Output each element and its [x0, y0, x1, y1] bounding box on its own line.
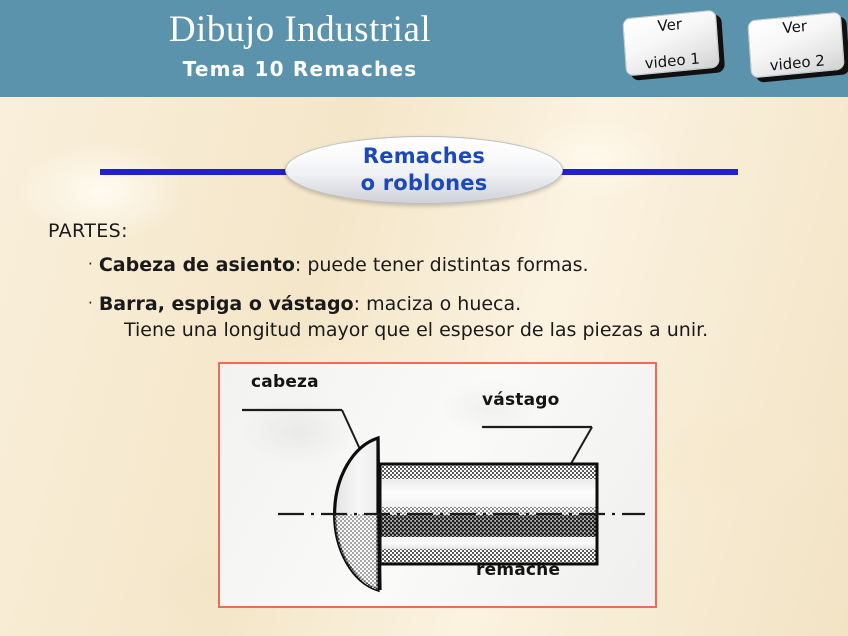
heading-rule-right: [548, 169, 738, 175]
header-band: Dibujo Industrial Tema 10 Remaches Ver v…: [0, 0, 848, 97]
bullet-continuation-2: Tiene una longitud mayor que el espesor …: [124, 317, 708, 343]
bullet-term-1: Cabeza de asiento: [99, 254, 295, 276]
heading-rule-left: [100, 169, 300, 175]
bullet-description-1: puede tener distintas formas.: [307, 254, 588, 276]
page-title: Dibujo Industrial: [0, 8, 600, 52]
ver-video-2-button[interactable]: Ver video 2: [747, 12, 845, 79]
oval-line-2: o roblones: [361, 170, 488, 197]
oval-line-1: Remaches: [363, 143, 485, 170]
ver-video-1-line1: Ver: [642, 13, 698, 36]
figure-label-cabeza: cabeza: [251, 372, 319, 392]
bullet-marker-1: ·: [88, 255, 93, 273]
bullet-separator-1: :: [295, 254, 307, 276]
figure-label-vastago: vástago: [482, 390, 560, 410]
ver-video-2-line2: video 2: [769, 51, 825, 74]
bullet-term-2: Barra, espiga o vástago: [99, 293, 354, 315]
ver-video-1-button[interactable]: Ver video 1: [622, 10, 720, 77]
slide-canvas: Dibujo Industrial Tema 10 Remaches Ver v…: [0, 0, 848, 636]
bullet-description-2: maciza o hueca.: [366, 293, 521, 315]
figure-label-remache: remache: [476, 560, 560, 580]
bullet-separator-2: :: [354, 293, 366, 315]
rivet-drawing: [220, 364, 651, 602]
bullet-item-1: · Cabeza de asiento: puede tener distint…: [88, 251, 589, 278]
section-title-oval: Remaches o roblones: [285, 136, 563, 204]
bullet-marker-2: ·: [88, 294, 93, 312]
rivet-diagram-figure: cabeza vástago remache: [218, 362, 657, 608]
page-subtitle: Tema 10 Remaches: [0, 57, 600, 81]
ver-video-1-line2: video 1: [644, 49, 700, 72]
bullet-item-2: · Barra, espiga o vástago: maciza o huec…: [88, 290, 708, 343]
ver-video-2-line1: Ver: [767, 15, 823, 38]
section-label-partes: PARTES:: [48, 220, 128, 242]
